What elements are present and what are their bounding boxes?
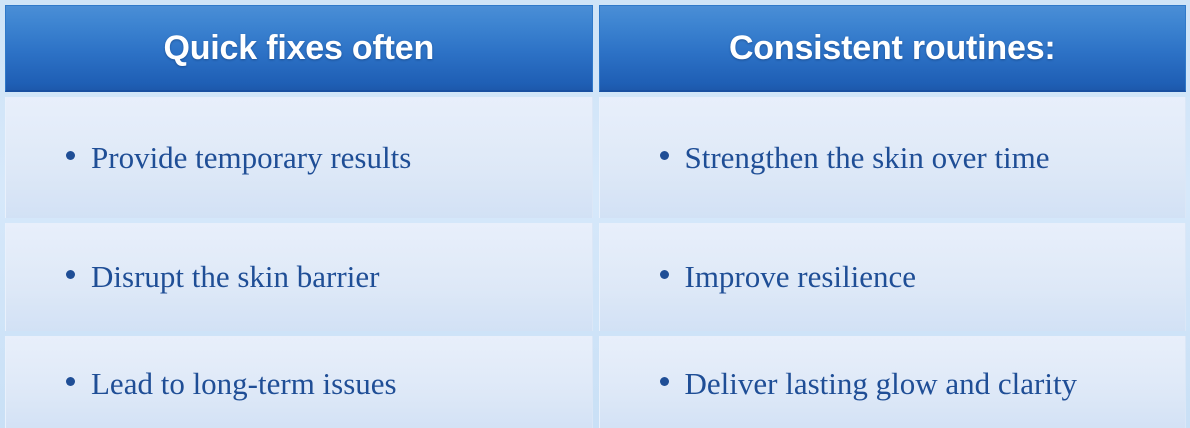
bullet-dot-icon [660, 270, 669, 279]
body-cell-left-3: Lead to long-term issues [5, 336, 593, 428]
header-cell-right: Consistent routines: [599, 5, 1187, 92]
bullet-dot-icon [66, 270, 75, 279]
body-cell-left-1: Provide temporary results [5, 97, 593, 218]
body-cell-right-3: Deliver lasting glow and clarity [599, 336, 1187, 428]
list-item: Disrupt the skin barrier [6, 259, 379, 295]
column-header-label-right: Consistent routines: [729, 29, 1056, 68]
list-item-label: Strengthen the skin over time [685, 140, 1050, 176]
list-item-label: Improve resilience [685, 259, 917, 295]
list-item: Strengthen the skin over time [600, 140, 1050, 176]
bullet-dot-icon [66, 377, 75, 386]
bullet-dot-icon [66, 151, 75, 160]
bullet-dot-icon [660, 377, 669, 386]
column-header-label-left: Quick fixes often [163, 29, 434, 68]
table-header-row: Quick fixes often Consistent routines: [5, 5, 1186, 92]
header-cell-left: Quick fixes often [5, 5, 593, 92]
list-item-label: Deliver lasting glow and clarity [685, 366, 1078, 402]
list-item-label: Lead to long-term issues [91, 366, 397, 402]
bullet-dot-icon [660, 151, 669, 160]
table-row: Disrupt the skin barrier Improve resilie… [5, 223, 1186, 331]
list-item: Provide temporary results [6, 140, 411, 176]
list-item: Lead to long-term issues [6, 366, 397, 402]
comparison-table: Quick fixes often Consistent routines: P… [0, 0, 1190, 428]
body-cell-right-2: Improve resilience [599, 223, 1187, 331]
table-row: Provide temporary results Strengthen the… [5, 97, 1186, 218]
list-item-label: Disrupt the skin barrier [91, 259, 379, 295]
list-item: Deliver lasting glow and clarity [600, 366, 1078, 402]
body-cell-left-2: Disrupt the skin barrier [5, 223, 593, 331]
list-item: Improve resilience [600, 259, 917, 295]
table-row: Lead to long-term issues Deliver lasting… [5, 336, 1186, 428]
body-cell-right-1: Strengthen the skin over time [599, 97, 1187, 218]
list-item-label: Provide temporary results [91, 140, 411, 176]
